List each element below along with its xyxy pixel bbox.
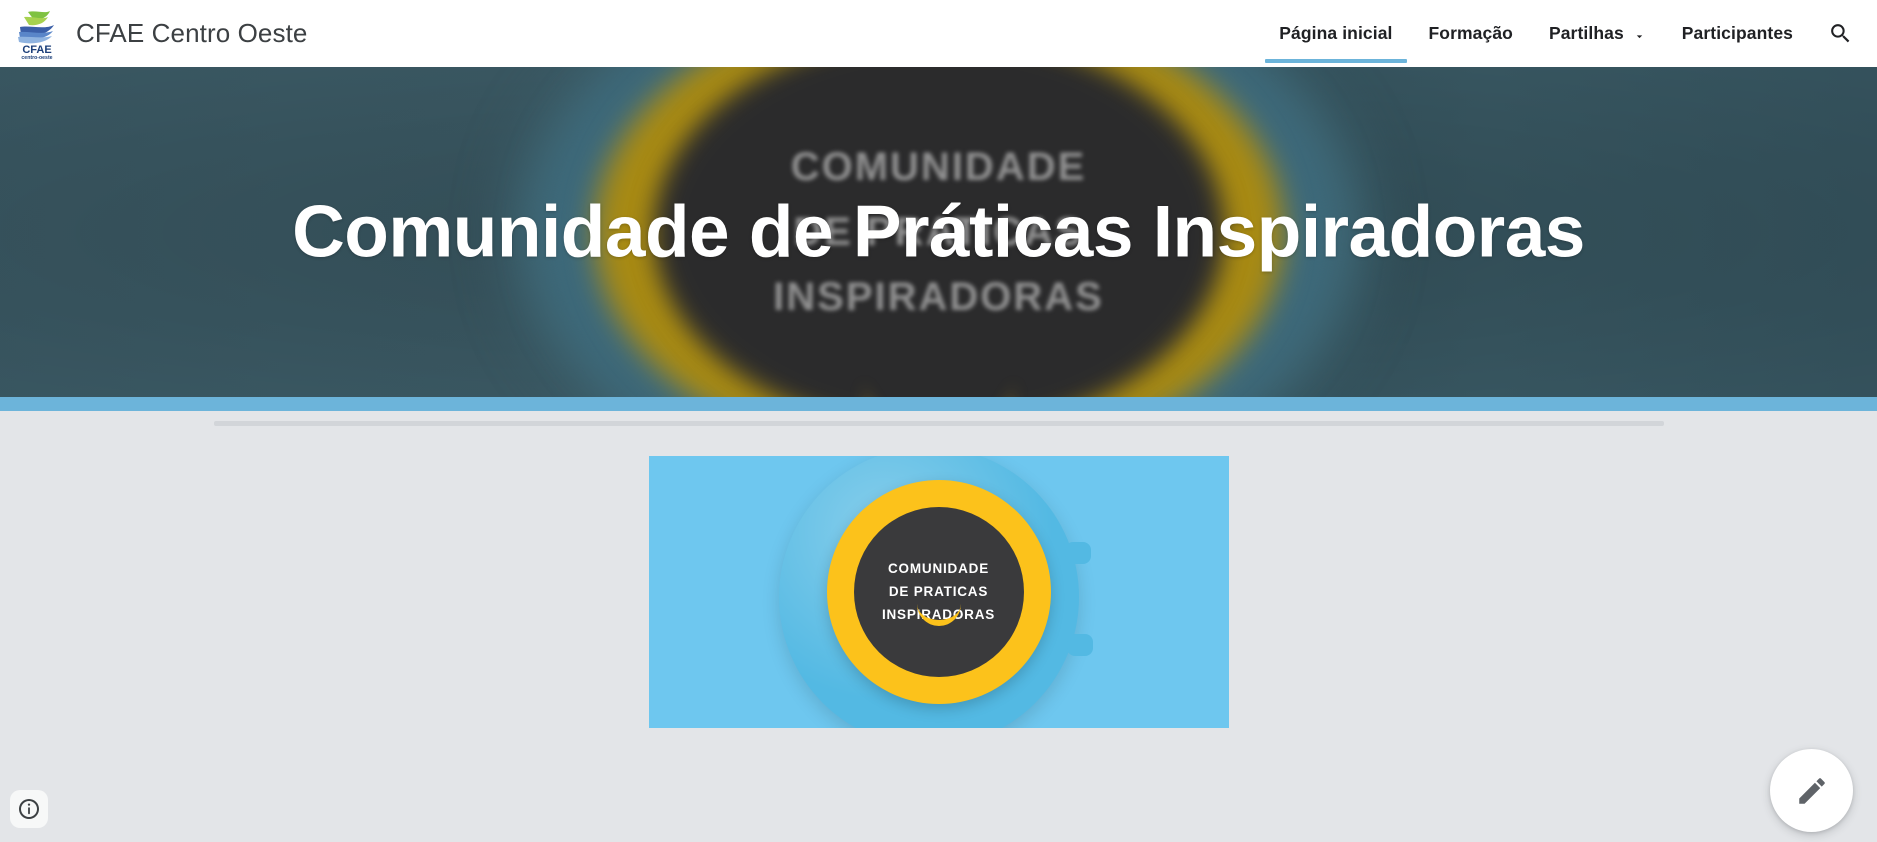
cfae-logo-icon: CFAE centro-oeste: [14, 8, 60, 60]
image-disc-tab-bottom: [1067, 634, 1093, 656]
nav-item-label: Página inicial: [1279, 23, 1392, 44]
nav-item-formacao[interactable]: Formação: [1411, 0, 1531, 67]
info-icon[interactable]: [10, 790, 48, 828]
svg-text:centro-oeste: centro-oeste: [21, 55, 52, 60]
nav-item-label: Participantes: [1682, 23, 1793, 44]
nav-item-partilhas[interactable]: Partilhas: [1531, 0, 1664, 67]
image-dark-circle: COMUNIDADE DE PRATICAS INSPIRADORAS: [854, 507, 1024, 677]
nav-item-label: Formação: [1429, 23, 1513, 44]
hero-banner: COMUNIDADE DE PRATICAS INSPIRADORAS Comu…: [0, 67, 1877, 397]
nav-item-label: Partilhas: [1549, 23, 1624, 44]
search-icon[interactable]: [1811, 0, 1869, 67]
content-image[interactable]: COMUNIDADE DE PRATICAS INSPIRADORAS: [649, 456, 1229, 728]
site-title: CFAE Centro Oeste: [76, 18, 307, 49]
chevron-down-icon: [1633, 27, 1646, 40]
primary-nav: Página inicial Formação Partilhas Partic…: [1261, 0, 1877, 67]
site-header: CFAE centro-oeste CFAE Centro Oeste Pági…: [0, 0, 1877, 67]
edit-pencil-icon[interactable]: [1770, 749, 1853, 832]
brand-link[interactable]: CFAE centro-oeste CFAE Centro Oeste: [0, 0, 307, 67]
image-caption-line-1: COMUNIDADE: [888, 559, 989, 579]
hero-accent-bar: [0, 397, 1877, 411]
image-caption-line-2: DE PRATICAS: [889, 582, 988, 602]
section-divider: [214, 421, 1664, 426]
hero-decor-smile: [864, 375, 1014, 397]
nav-item-pagina-inicial[interactable]: Página inicial: [1261, 0, 1410, 67]
image-disc-tab-top: [1065, 542, 1091, 564]
nav-item-participantes[interactable]: Participantes: [1664, 0, 1811, 67]
main-content: COMUNIDADE DE PRATICAS INSPIRADORAS: [0, 411, 1877, 842]
page-title: Comunidade de Práticas Inspiradoras: [0, 189, 1877, 274]
